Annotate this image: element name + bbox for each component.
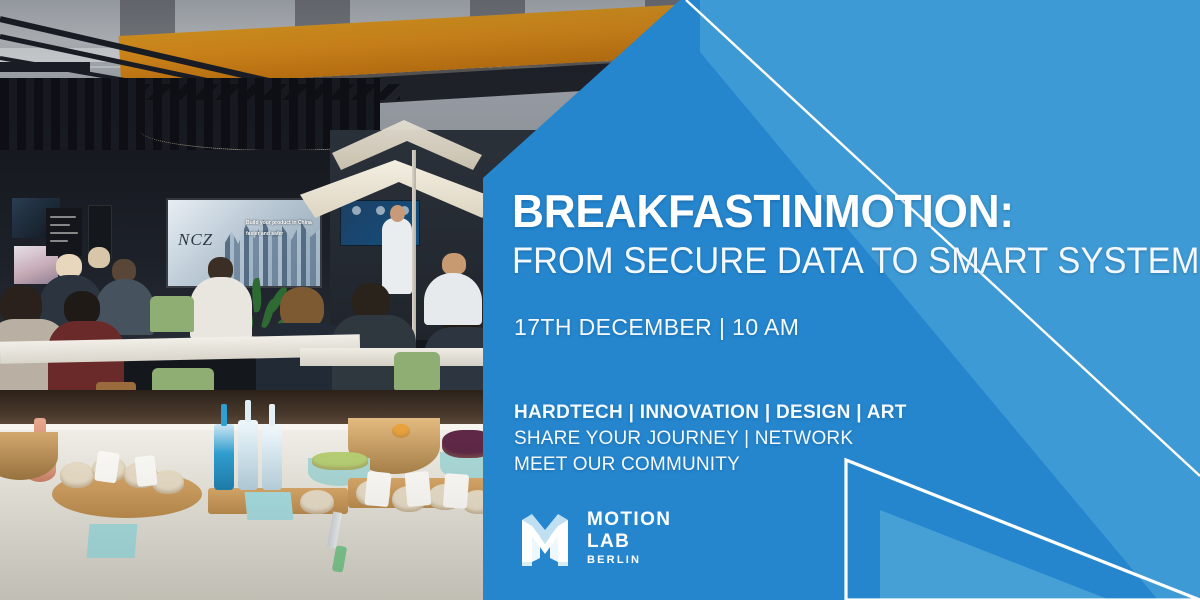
bottle-neck [245,400,251,422]
attendee-body [424,273,482,325]
green-chair [150,296,194,332]
banner-content: BREAKFASTINMOTION: FROM SECURE DATA TO S… [512,0,1192,600]
tagline-activities: SHARE YOUR JOURNEY | NETWORK [514,426,907,452]
place-card [245,492,294,520]
event-banner: NCZ Build your product in China faster a… [0,0,1200,600]
napkin [94,451,120,484]
attendee-head [442,253,466,275]
logo-line-lab: LAB [587,532,671,551]
logo-line-motion: MOTION [587,510,671,529]
attendee-head [88,247,110,268]
orange-fruit [392,424,410,438]
logo-line-berlin: BERLIN [587,555,671,566]
screen-tagline-line2: faster and safer [246,231,316,239]
motionlab-m-monogram-icon [514,508,576,568]
napkin [405,471,432,507]
bottle-neck [269,404,275,426]
event-taglines: HARDTECH | INNOVATION | DESIGN | ART SHA… [514,400,907,478]
attendee-body [190,277,252,339]
napkin [364,471,391,507]
bread-roll [300,490,334,514]
water-bottle [262,424,282,490]
wall-bracket [0,62,90,72]
tagline-community: MEET OUR COMMUNITY [514,452,907,478]
attendee-head [352,283,390,319]
napkin [134,455,157,487]
motionlab-logo: MOTION LAB BERLIN [514,508,671,568]
blue-bottle [214,424,234,490]
green-grapes [312,452,368,470]
bread-roll [60,462,94,488]
event-datetime: 17TH DECEMBER | 10 AM [514,314,799,341]
chalkboard-sign [46,208,82,256]
event-subtitle: FROM SECURE DATA TO SMART SYSTEMS [512,240,1200,282]
bottle-neck [221,404,227,426]
water-bottle [238,420,258,490]
speaker-head [390,205,405,222]
curtain-valance [140,84,400,100]
event-title: BREAKFASTINMOTION: [512,184,1014,238]
attendee-head [64,291,100,325]
napkin [443,473,469,509]
screen-tagline-line1: Build your product in China [246,220,316,228]
place-card [87,524,138,558]
tagline-topics: HARDTECH | INNOVATION | DESIGN | ART [514,400,907,426]
logo-wordmark: MOTION LAB BERLIN [587,510,671,566]
screen-brand-logo: NCZ [178,230,213,250]
green-chair [394,352,440,390]
